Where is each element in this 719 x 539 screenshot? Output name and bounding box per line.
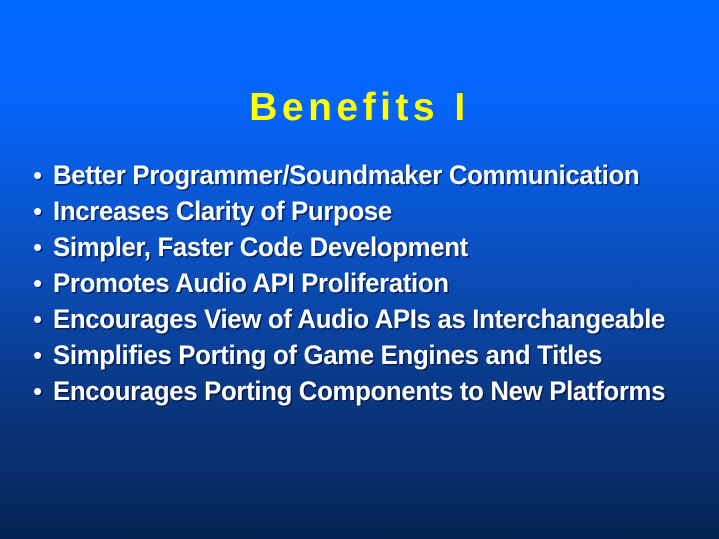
bullet-item: • Simplifies Porting of Game Engines and… — [33, 340, 693, 376]
bullet-point-icon: • — [33, 340, 53, 370]
bullet-item-label: Simpler, Faster Code Development — [53, 232, 664, 262]
slide-title: Benefits I — [0, 86, 719, 130]
bullet-item: • Promotes Audio API Proliferation — [33, 268, 693, 304]
bullet-item-label: Increases Clarity of Purpose — [53, 196, 664, 226]
bullet-item-label: Encourages Porting Components to New Pla… — [53, 376, 665, 406]
bullet-item: • Increases Clarity of Purpose — [33, 196, 693, 232]
bullet-item-label: Promotes Audio API Proliferation — [53, 268, 664, 298]
bullet-point-icon: • — [33, 160, 53, 190]
bullet-point-icon: • — [33, 304, 53, 334]
bullet-point-icon: • — [33, 196, 53, 226]
bullet-item-label: Better Programmer/Soundmaker Communicati… — [53, 160, 664, 190]
bullet-item: • Encourages Porting Components to New P… — [33, 376, 693, 412]
bullet-item: • Encourages View of Audio APIs as Inter… — [33, 304, 693, 340]
bullet-point-icon: • — [33, 268, 53, 298]
bullet-item: • Better Programmer/Soundmaker Communica… — [33, 160, 693, 196]
bullet-list: • Better Programmer/Soundmaker Communica… — [33, 160, 693, 412]
presentation-slide: Benefits I • Better Programmer/Soundmake… — [0, 0, 719, 539]
bullet-item: • Simpler, Faster Code Development — [33, 232, 693, 268]
bullet-point-icon: • — [33, 232, 53, 262]
bullet-item-label: Encourages View of Audio APIs as Interch… — [53, 304, 665, 334]
bullet-point-icon: • — [33, 376, 53, 406]
bullet-item-label: Simplifies Porting of Game Engines and T… — [53, 340, 664, 370]
